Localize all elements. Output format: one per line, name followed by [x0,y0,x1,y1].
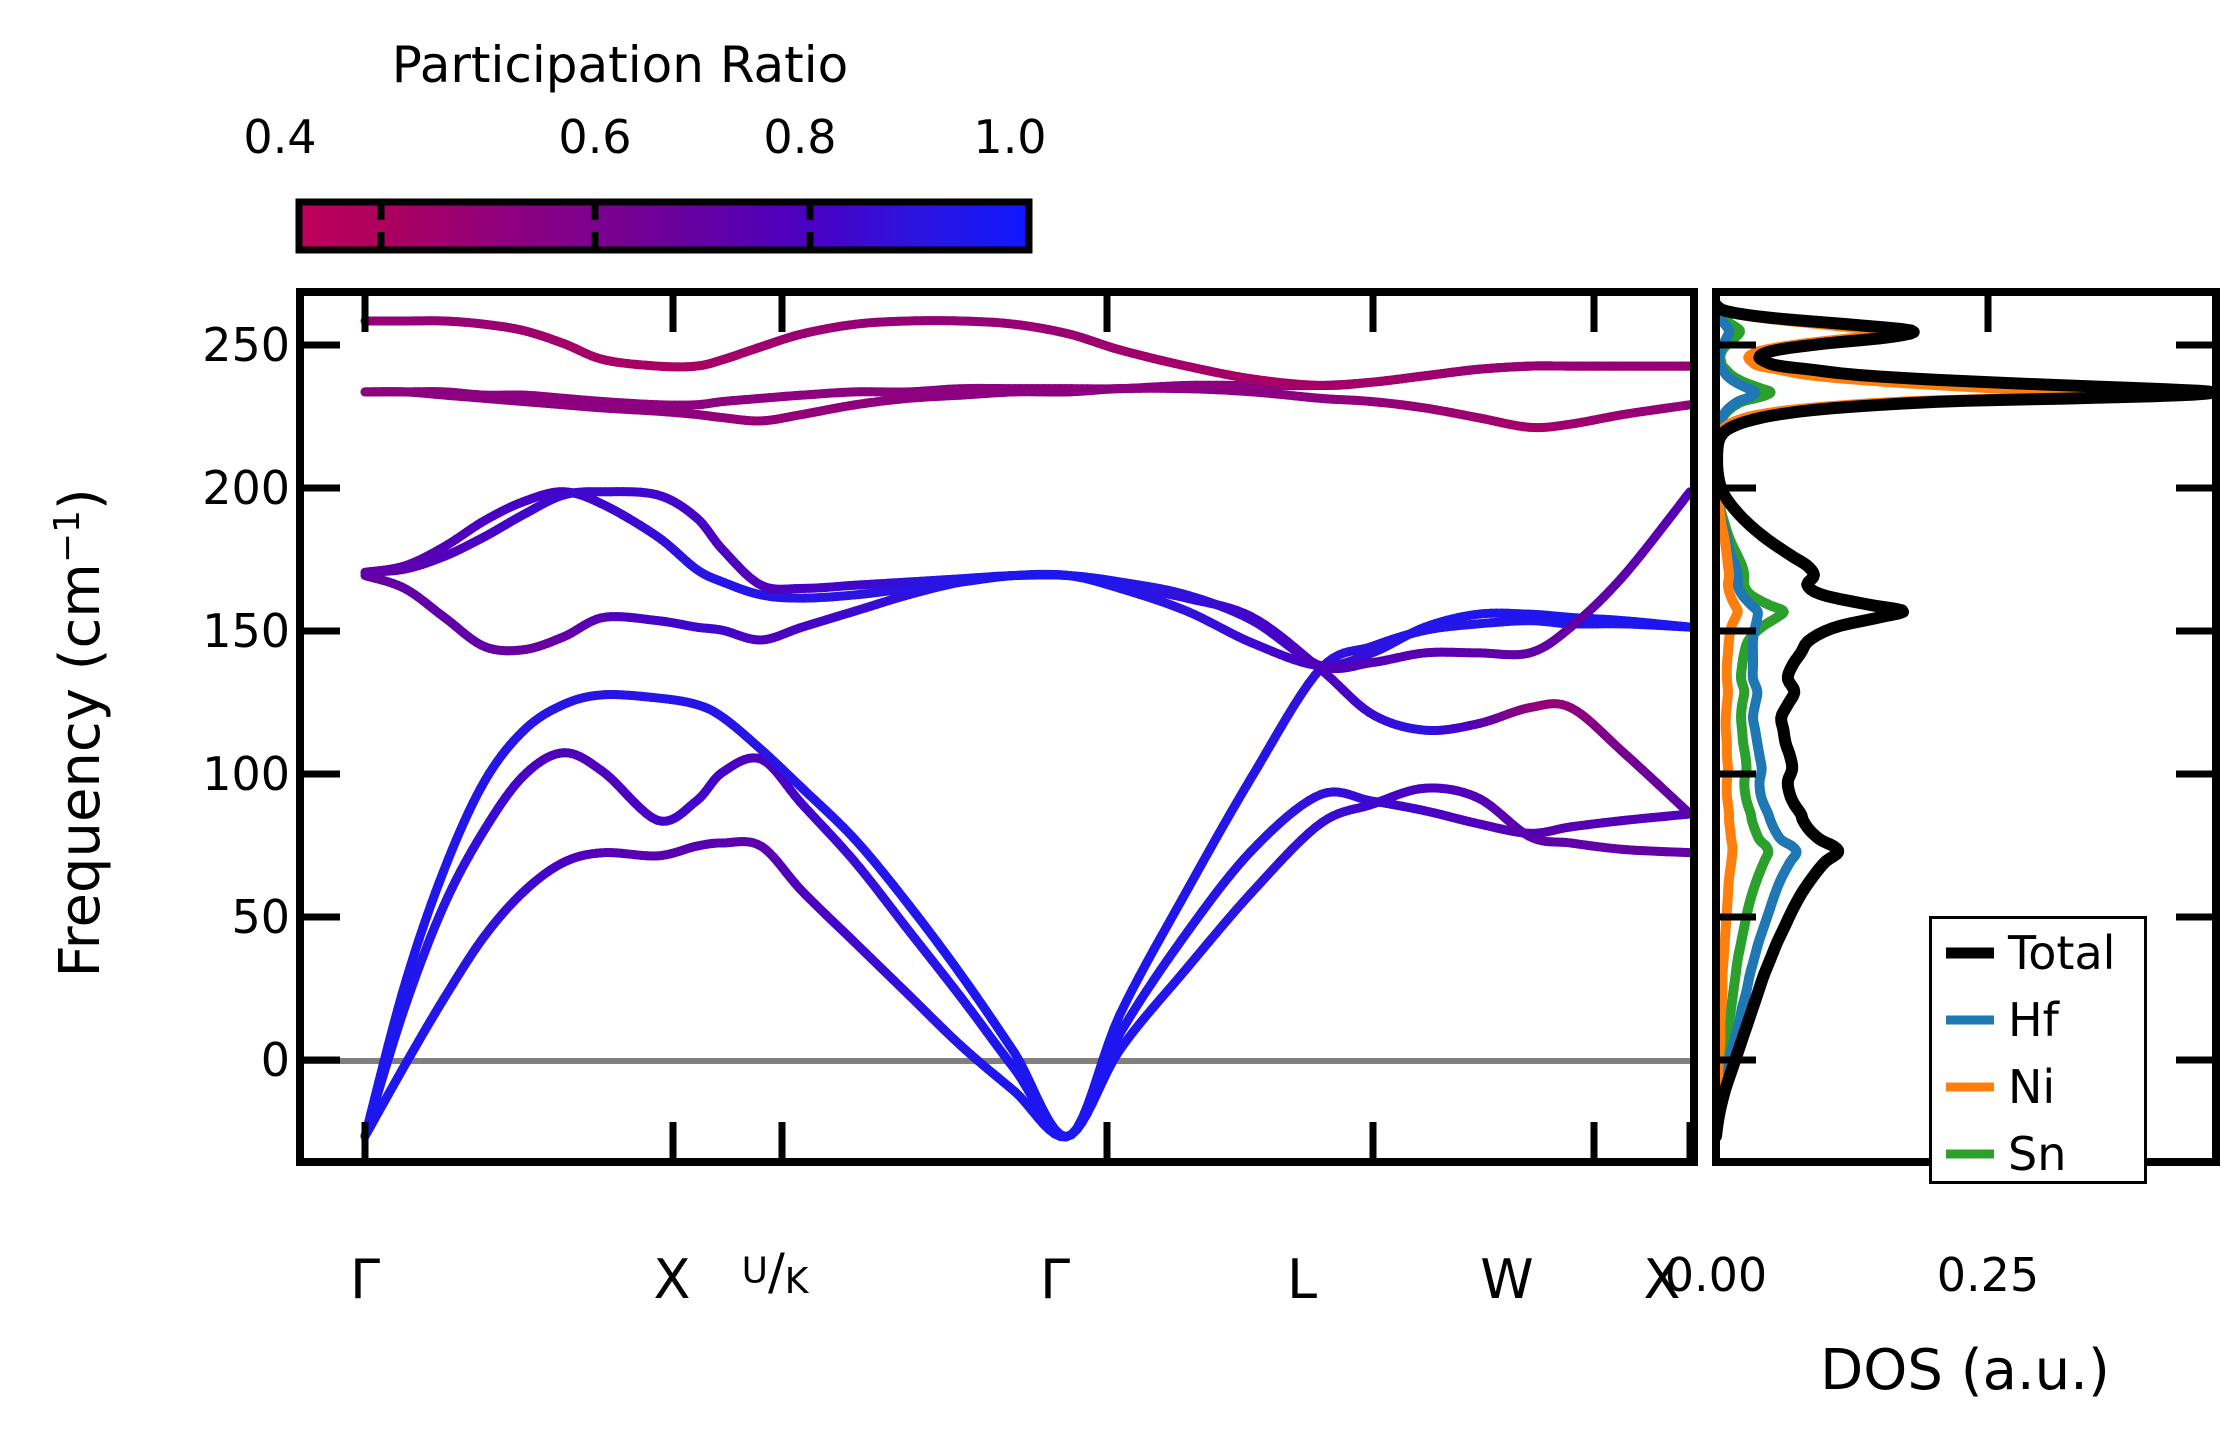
colorbar-tick-label-0: 0.4 [235,110,325,164]
legend-swatch-sn [1944,1144,1996,1164]
colorbar-tick-label-2: 0.8 [755,110,845,164]
y-tick-label-250: 250 [140,318,290,372]
y-tick-label-100: 100 [140,747,290,801]
x-tick-label-w: W [1457,1248,1557,1311]
colorbar-title: Participation Ratio [300,36,940,94]
legend-label-total: Total [2008,926,2115,980]
x-tick-label-uk-upper: U [742,1251,768,1292]
legend-label-hf: Hf [2008,993,2059,1047]
dos-x-tick-label-0: 0.00 [1636,1248,1796,1302]
colorbar-tick-label-3: 1.0 [965,110,1055,164]
y-tick-label-150: 150 [140,604,290,658]
legend-swatch-total [1944,943,1996,963]
legend-entry-hf: Hf [1932,986,2144,1053]
phonon-figure: Participation Ratio 0.4 0.6 0.8 1.0 Freq… [0,0,2222,1455]
dos-x-axis-label: DOS (a.u.) [1740,1338,2190,1403]
legend-swatch-ni [1944,1077,1996,1097]
legend-label-ni: Ni [2008,1060,2055,1114]
legend-entry-ni: Ni [1932,1053,2144,1120]
y-axis-label-text: Frequency (cm [48,563,113,977]
dos-x-tick-label-1: 0.25 [1908,1248,2068,1302]
band-structure-panel [296,288,1698,1166]
colorbar-tick-label-1: 0.6 [550,110,640,164]
x-tick-label-gamma-2: Γ [1005,1248,1105,1311]
y-tick-label-200: 200 [140,461,290,515]
band-curves [365,321,1690,1137]
y-axis-label-exponent: −1 [47,510,88,563]
x-tick-label-uk-slash: / [768,1243,785,1301]
band-segment [1686,810,1690,814]
y-axis-label: Frequency (cm−1) [47,473,113,993]
legend-label-sn: Sn [2008,1127,2066,1181]
y-ticks [300,345,340,1060]
x-tick-label-uk-lower: K [785,1261,809,1302]
x-tick-label-gamma-1: Γ [315,1248,415,1311]
legend-entry-sn: Sn [1932,1120,2144,1187]
dos-legend: Total Hf Ni Sn [1929,916,2147,1184]
x-tick-label-l: L [1252,1248,1352,1311]
y-axis-label-tail: ) [48,488,113,510]
x-tick-label-uk: U/K [710,1243,840,1302]
y-tick-label-0: 0 [140,1033,290,1087]
x-tick-label-x-1: X [622,1248,722,1311]
band-segment [1686,405,1690,406]
band-segment [1686,492,1690,497]
colorbar-gradient [295,198,1035,278]
legend-entry-total: Total [1932,919,2144,986]
y-tick-label-50: 50 [140,890,290,944]
legend-swatch-hf [1944,1010,1996,1030]
